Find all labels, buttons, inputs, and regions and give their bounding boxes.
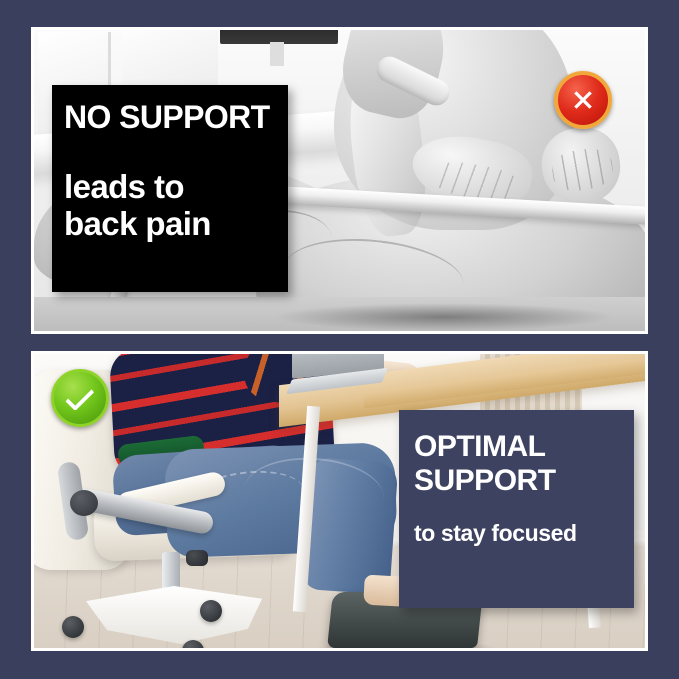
caption-subtext: leads to back pain [64, 169, 288, 243]
caption-subtext-line1: leads to [64, 169, 288, 206]
caption-no-support: NO SUPPORT leads to back pain [52, 85, 288, 292]
cross-icon [554, 71, 612, 129]
check-icon [51, 369, 109, 427]
monitor-stand [270, 42, 284, 66]
floor-shadow [274, 303, 614, 331]
chair-adjust-knob [70, 490, 98, 516]
caption-headline: OPTIMAL SUPPORT [414, 430, 634, 498]
caption-headline-line1: OPTIMAL [414, 430, 634, 464]
chair-caster [62, 616, 84, 638]
caption-subtext: to stay focused [414, 520, 634, 547]
comparison-infographic: NO SUPPORT leads to back pain [0, 0, 679, 679]
panel-no-support: NO SUPPORT leads to back pain [31, 27, 648, 334]
caption-headline-line2: SUPPORT [414, 464, 634, 498]
chair-height-lever [186, 550, 208, 566]
panel-optimal-support: OPTIMAL SUPPORT to stay focused [31, 351, 648, 651]
chair-caster [200, 600, 222, 622]
caption-headline: NO SUPPORT [64, 101, 288, 135]
caption-subtext-line2: back pain [64, 206, 288, 243]
caption-optimal-support: OPTIMAL SUPPORT to stay focused [399, 410, 634, 608]
